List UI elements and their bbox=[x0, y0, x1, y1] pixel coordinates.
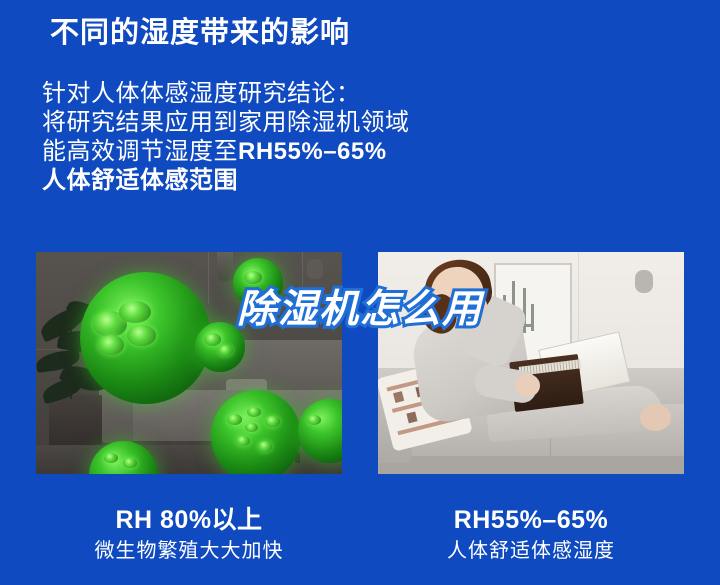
intro-line-2: 将研究结果应用到家用除湿机领域 bbox=[42, 108, 482, 137]
pendant-lamp-icon bbox=[217, 249, 233, 281]
germ-bud bbox=[265, 416, 279, 427]
pillow-pattern bbox=[407, 411, 418, 423]
caption-subtitle: 人体舒适体感湿度 bbox=[375, 539, 687, 563]
intro-line-3: 能高效调节湿度至RH55%–65% bbox=[42, 137, 482, 166]
caption-title: RH 80%以上 bbox=[33, 505, 345, 535]
germ-sphere bbox=[211, 390, 301, 477]
germ-bud bbox=[123, 458, 136, 468]
caption-title: RH55%–65% bbox=[375, 505, 687, 535]
intro-copy: 针对人体体感湿度研究结论： 将研究结果应用到家用除湿机领域 能高效调节湿度至RH… bbox=[42, 79, 482, 195]
caption-high-humidity: RH 80%以上 微生物繁殖大大加快 bbox=[33, 505, 345, 563]
germ-bud bbox=[245, 423, 258, 432]
overlay-headline: 除湿机怎么用 bbox=[0, 278, 720, 334]
sofa-base bbox=[375, 456, 687, 477]
wall-knob bbox=[307, 259, 323, 279]
pillow-pattern bbox=[393, 391, 404, 403]
germ-bud bbox=[247, 407, 261, 417]
intro-line-3-emphasis: RH55%–65% bbox=[238, 138, 387, 165]
page-title: 不同的湿度带来的影响 bbox=[50, 16, 350, 51]
germ-bud bbox=[236, 436, 250, 446]
intro-line-4: 人体舒适体感范围 bbox=[42, 166, 482, 195]
germ-bud bbox=[204, 333, 221, 346]
germ-bud bbox=[218, 345, 233, 356]
germ-bud bbox=[98, 335, 124, 355]
plant-pot bbox=[49, 395, 102, 445]
germ-bud bbox=[307, 415, 321, 425]
germ-bud bbox=[227, 414, 241, 425]
intro-line-3-prefix: 能高效调节湿度至 bbox=[42, 138, 238, 165]
germ-bud bbox=[258, 441, 272, 452]
humidity-infographic-poster: 不同的湿度带来的影响 针对人体体感湿度研究结论： 将研究结果应用到家用除湿机领域… bbox=[0, 0, 720, 585]
caption-comfort-humidity: RH55%–65% 人体舒适体感湿度 bbox=[375, 505, 687, 563]
caption-subtitle: 微生物繁殖大大加快 bbox=[33, 539, 345, 563]
intro-line-1: 针对人体体感湿度研究结论： bbox=[42, 79, 482, 108]
germ-bud bbox=[104, 453, 118, 463]
